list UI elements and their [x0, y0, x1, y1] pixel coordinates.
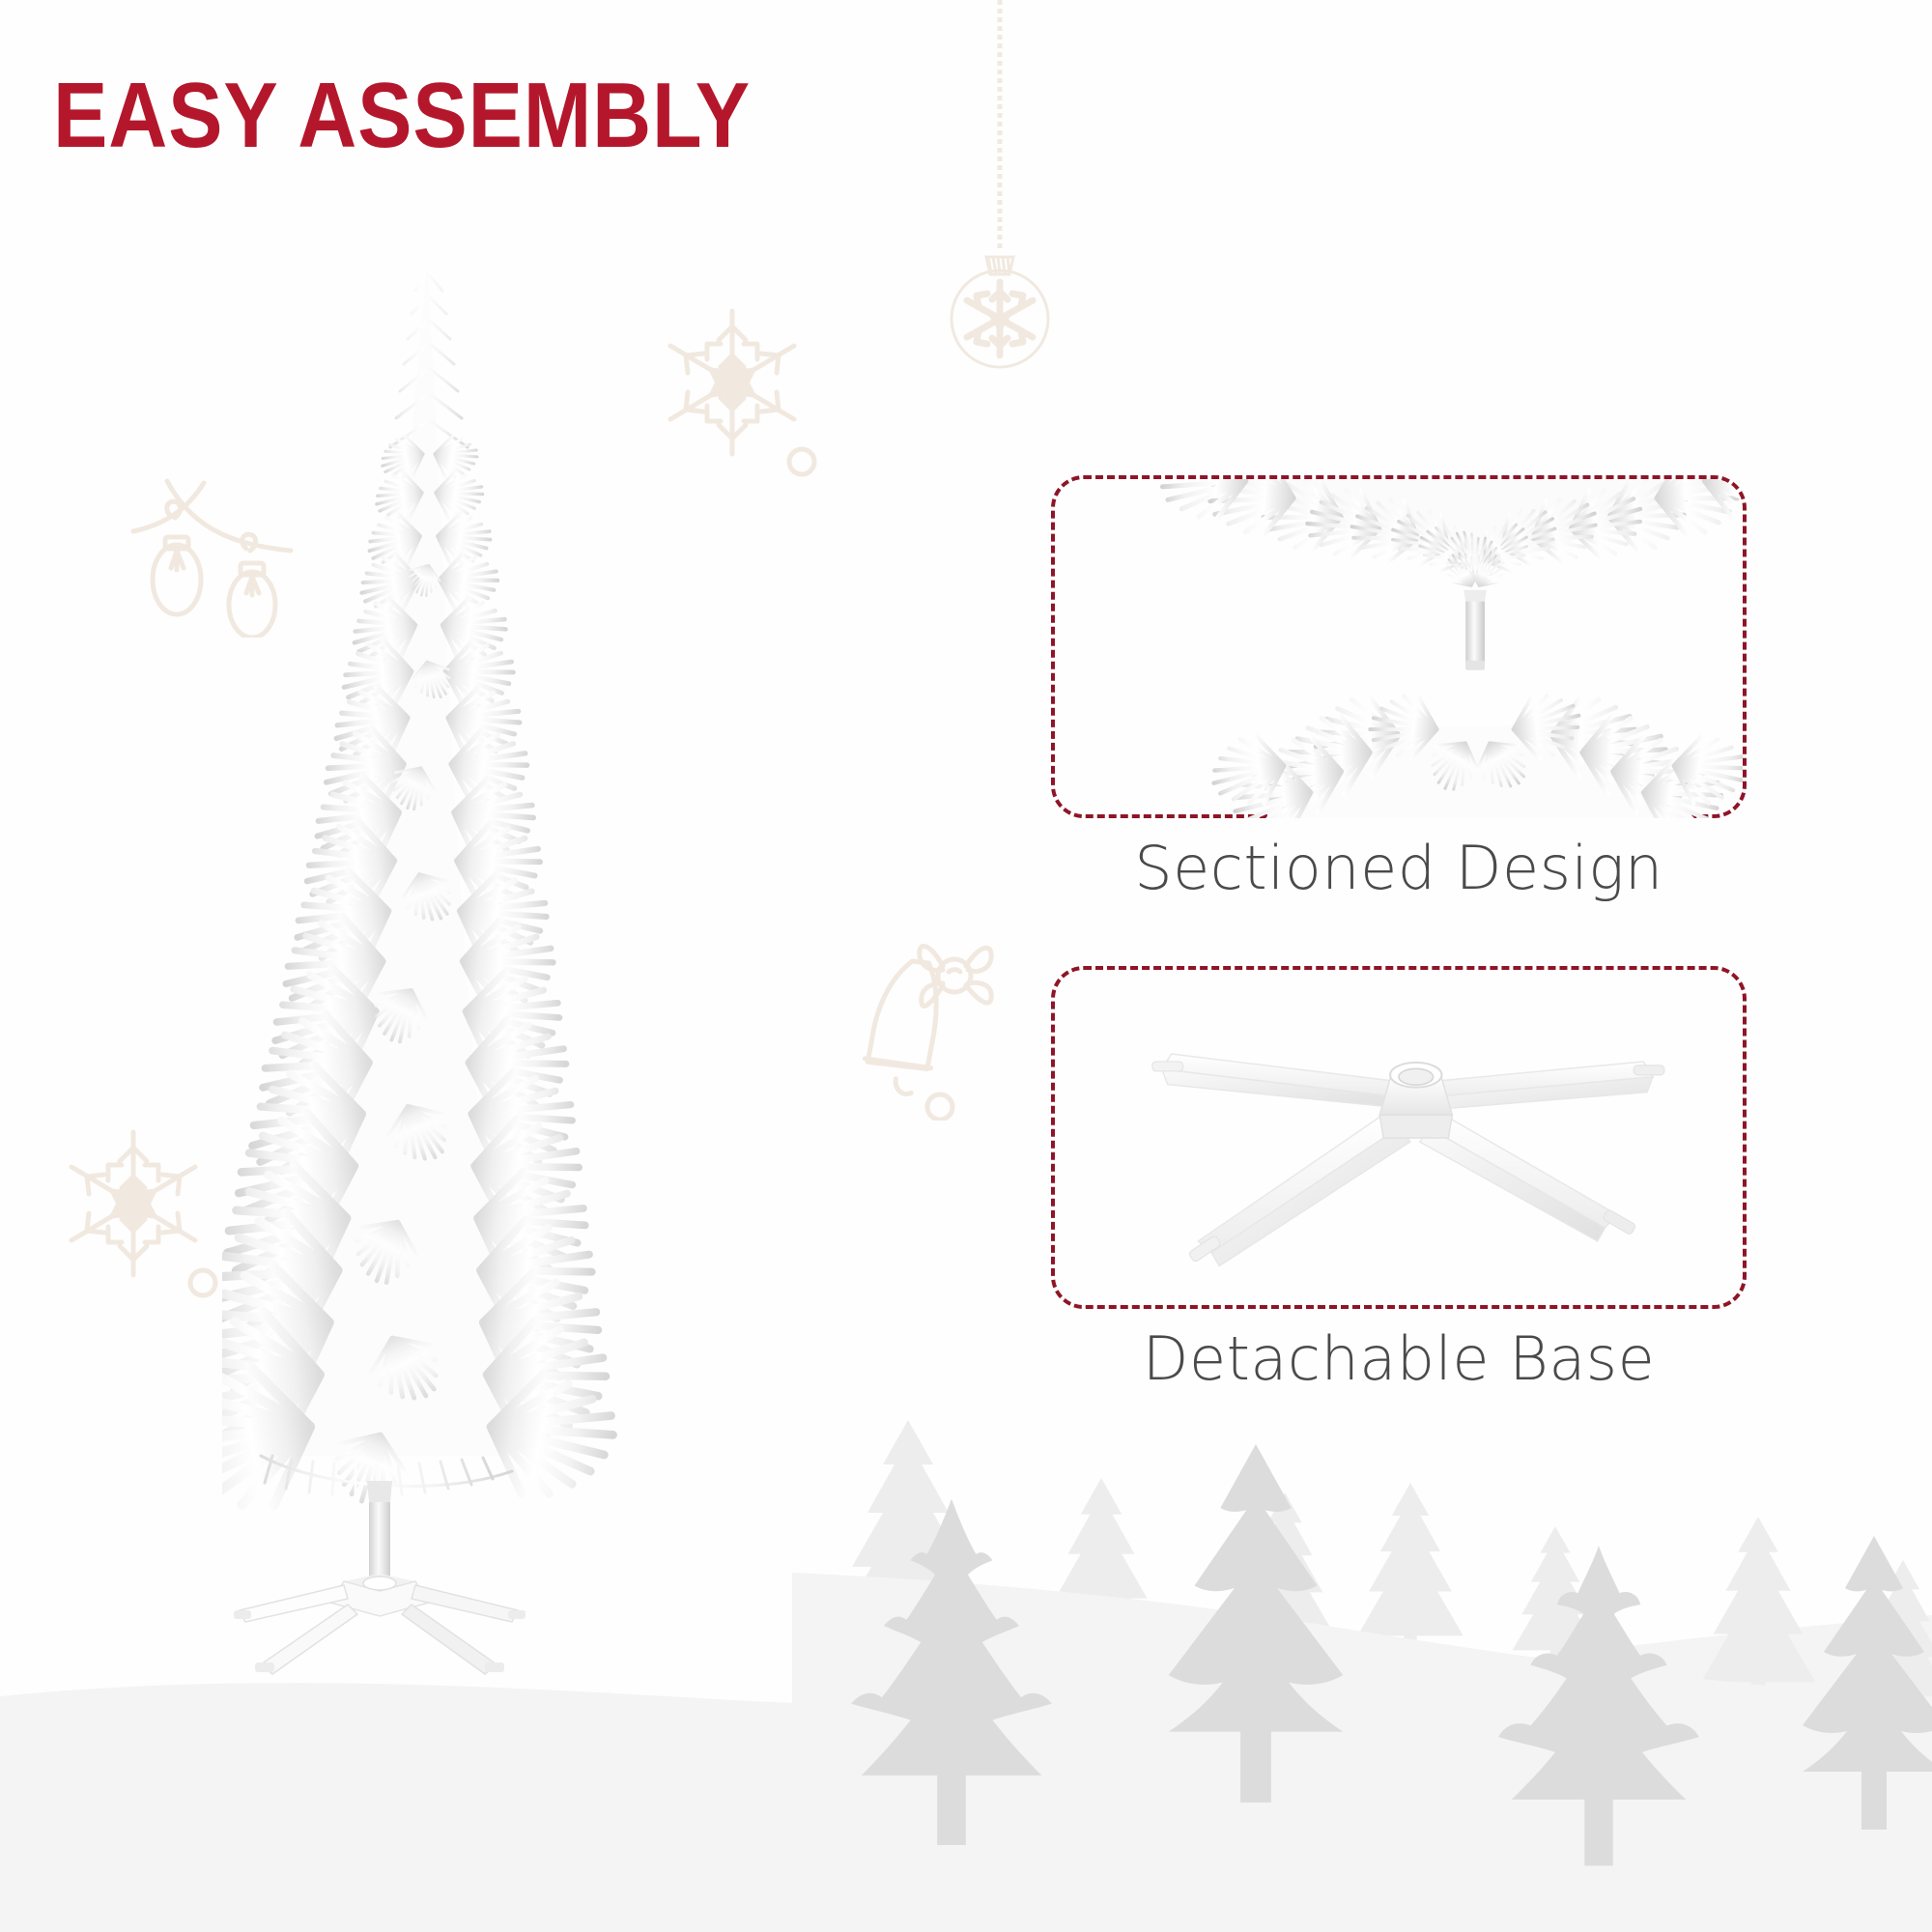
snowflake-icon-top	[657, 299, 831, 483]
callout-sectioned-design[interactable]	[1051, 475, 1747, 818]
background-forest-silhouette	[792, 1391, 1932, 1932]
tree-stand-base-image	[1055, 970, 1743, 1309]
callout-detachable-base[interactable]	[1051, 966, 1747, 1309]
hero-product-image	[222, 246, 676, 1695]
stand-leg-front-right	[1420, 1113, 1636, 1241]
snowflake-icon-left	[58, 1121, 232, 1304]
lower-tree-section	[1207, 691, 1742, 818]
page-title: EASY ASSEMBLY	[53, 70, 751, 162]
tree-stand-hero	[234, 1574, 526, 1674]
stand-center-hub	[1379, 1063, 1452, 1138]
hanging-ornament-snowflake-icon	[932, 0, 1067, 386]
callout-label-detachable-base: Detachable Base	[1051, 1323, 1747, 1394]
stand-leg-back-right	[1437, 1062, 1664, 1109]
callout-label-sectioned-design: Sectioned Design	[1051, 833, 1747, 903]
upper-tree-section	[1151, 479, 1743, 670]
connector-pin	[1465, 594, 1485, 668]
product-infographic-canvas: EASY ASSEMBLY	[0, 0, 1932, 1932]
tree-section-connector-image	[1055, 479, 1743, 818]
bell-with-bow-icon	[850, 927, 1034, 1121]
stand-leg-front-left	[1188, 1113, 1410, 1265]
stand-leg-back-left	[1152, 1054, 1395, 1107]
